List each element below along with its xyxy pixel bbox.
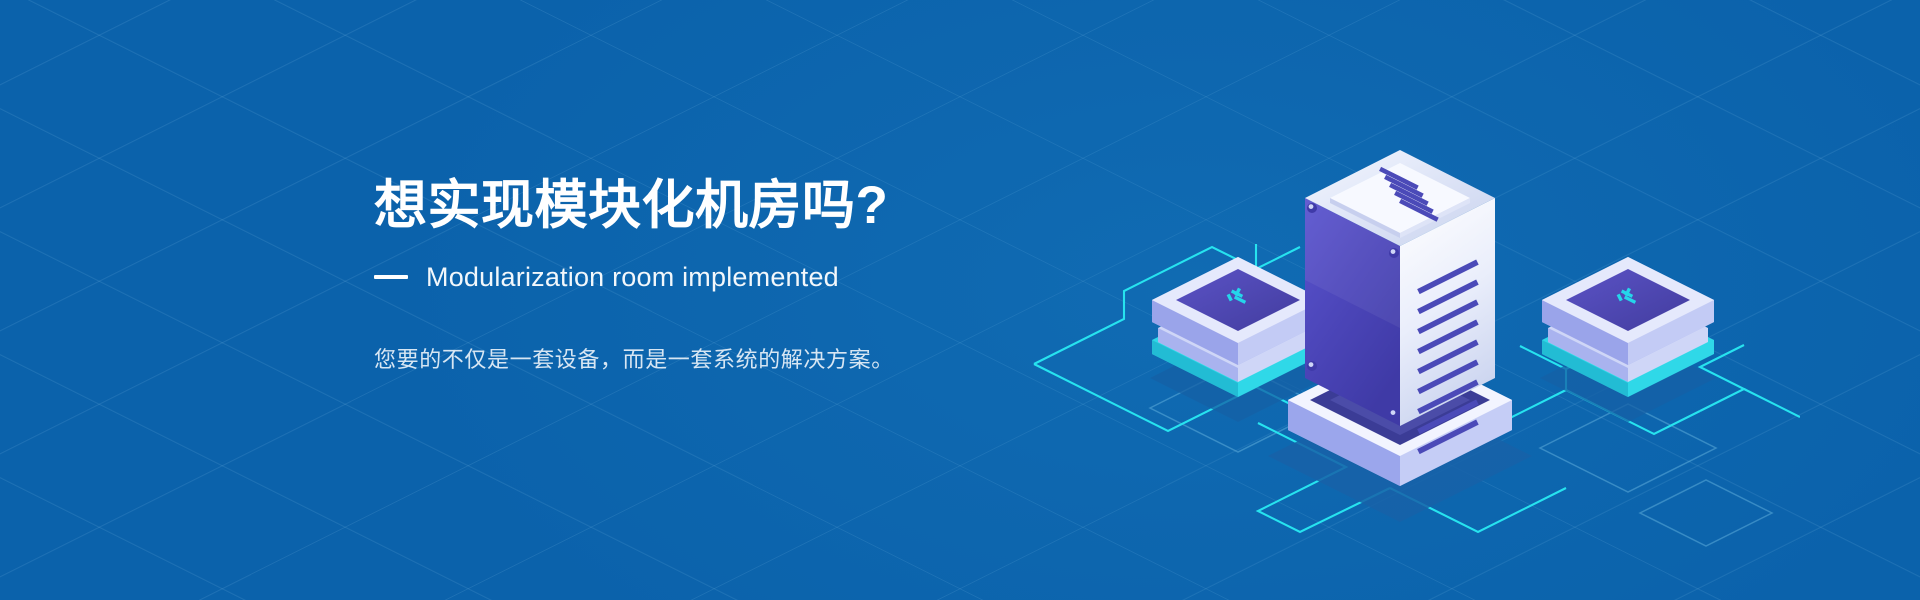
dash-marker-icon [374,275,408,279]
hero-banner: 想实现模块化机房吗? Modularization room implement… [0,0,1920,600]
isometric-server-illustration [1000,78,1800,548]
hero-body-text: 您要的不仅是一套设备，而是一套系统的解决方案。 [374,342,1074,377]
hero-subtitle-row: Modularization room implemented [374,262,1074,293]
hero-text-block: 想实现模块化机房吗? Modularization room implement… [374,175,1074,399]
hero-subtitle: Modularization room implemented [426,262,839,293]
page-title: 想实现模块化机房吗? [374,175,1074,238]
